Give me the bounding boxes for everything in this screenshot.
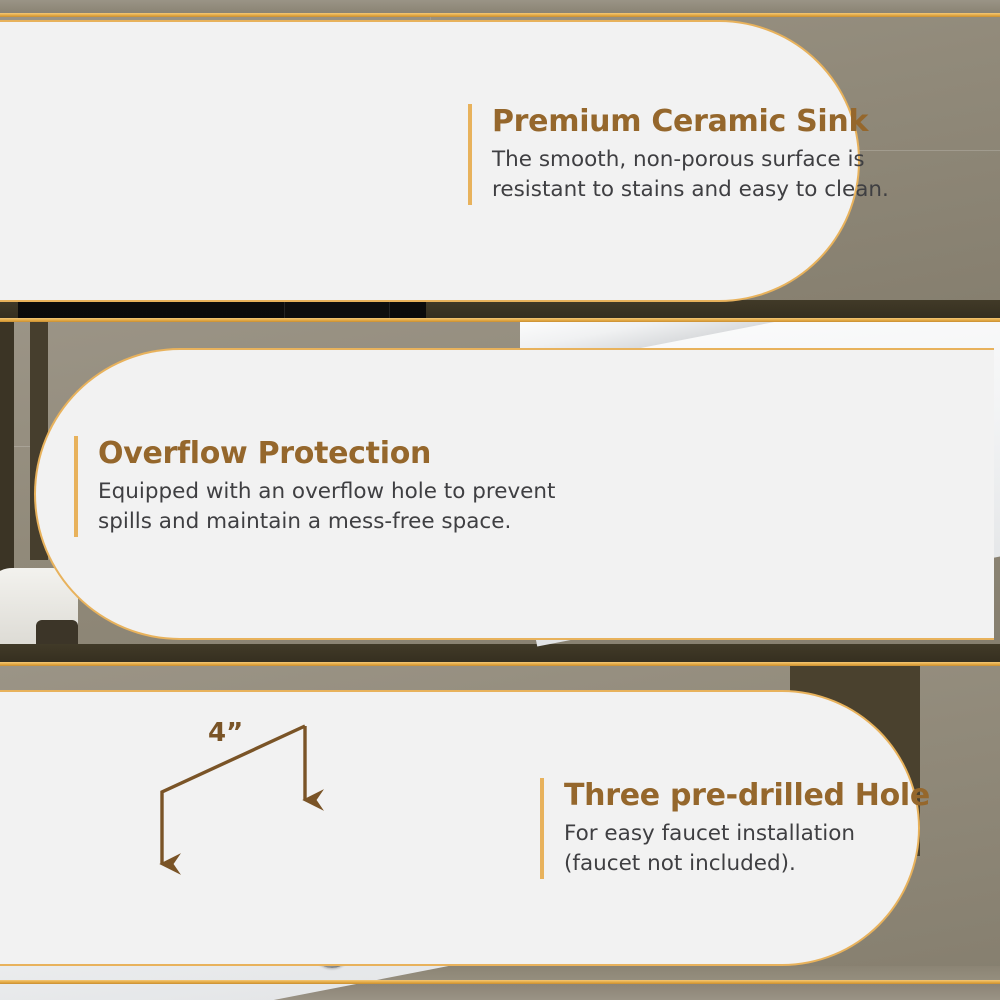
- gold-divider-top: [0, 13, 1000, 17]
- infographic-canvas: Premium Ceramic Sink The smooth, non-por…: [0, 0, 1000, 1000]
- gold-divider-bottom: [0, 980, 1000, 984]
- feature-panel-overflow-protection: Overflow Protection Equipped with an ove…: [0, 322, 1000, 666]
- feature-3-body-line-1: For easy faucet installation: [564, 819, 930, 849]
- gold-divider-2: [0, 662, 1000, 666]
- feature-3-heading: Three pre-drilled Hole: [564, 778, 930, 813]
- top-wall-strip: [0, 0, 1000, 13]
- feature-1-heading: Premium Ceramic Sink: [492, 104, 889, 139]
- feature-1-body-line-2: resistant to stains and easy to clean.: [492, 175, 889, 205]
- feature-2-body-line-2: spills and maintain a mess-free space.: [98, 507, 555, 537]
- feature-2-heading: Overflow Protection: [98, 436, 555, 471]
- feature-1-body-line-1: The smooth, non-porous surface is: [492, 145, 889, 175]
- feature-text-3: Three pre-drilled Hole For easy faucet i…: [540, 778, 930, 879]
- hole-spacing-callout: 4”: [120, 700, 350, 880]
- hole-spacing-label: 4”: [208, 718, 243, 748]
- gold-divider-1: [0, 318, 1000, 322]
- feature-text-2: Overflow Protection Equipped with an ove…: [74, 436, 555, 537]
- feature-text-1: Premium Ceramic Sink The smooth, non-por…: [468, 104, 889, 205]
- feature-3-body-line-2: (faucet not included).: [564, 849, 930, 879]
- feature-panel-premium-ceramic-sink: Premium Ceramic Sink The smooth, non-por…: [0, 0, 1000, 322]
- feature-2-body-line-1: Equipped with an overflow hole to preven…: [98, 477, 555, 507]
